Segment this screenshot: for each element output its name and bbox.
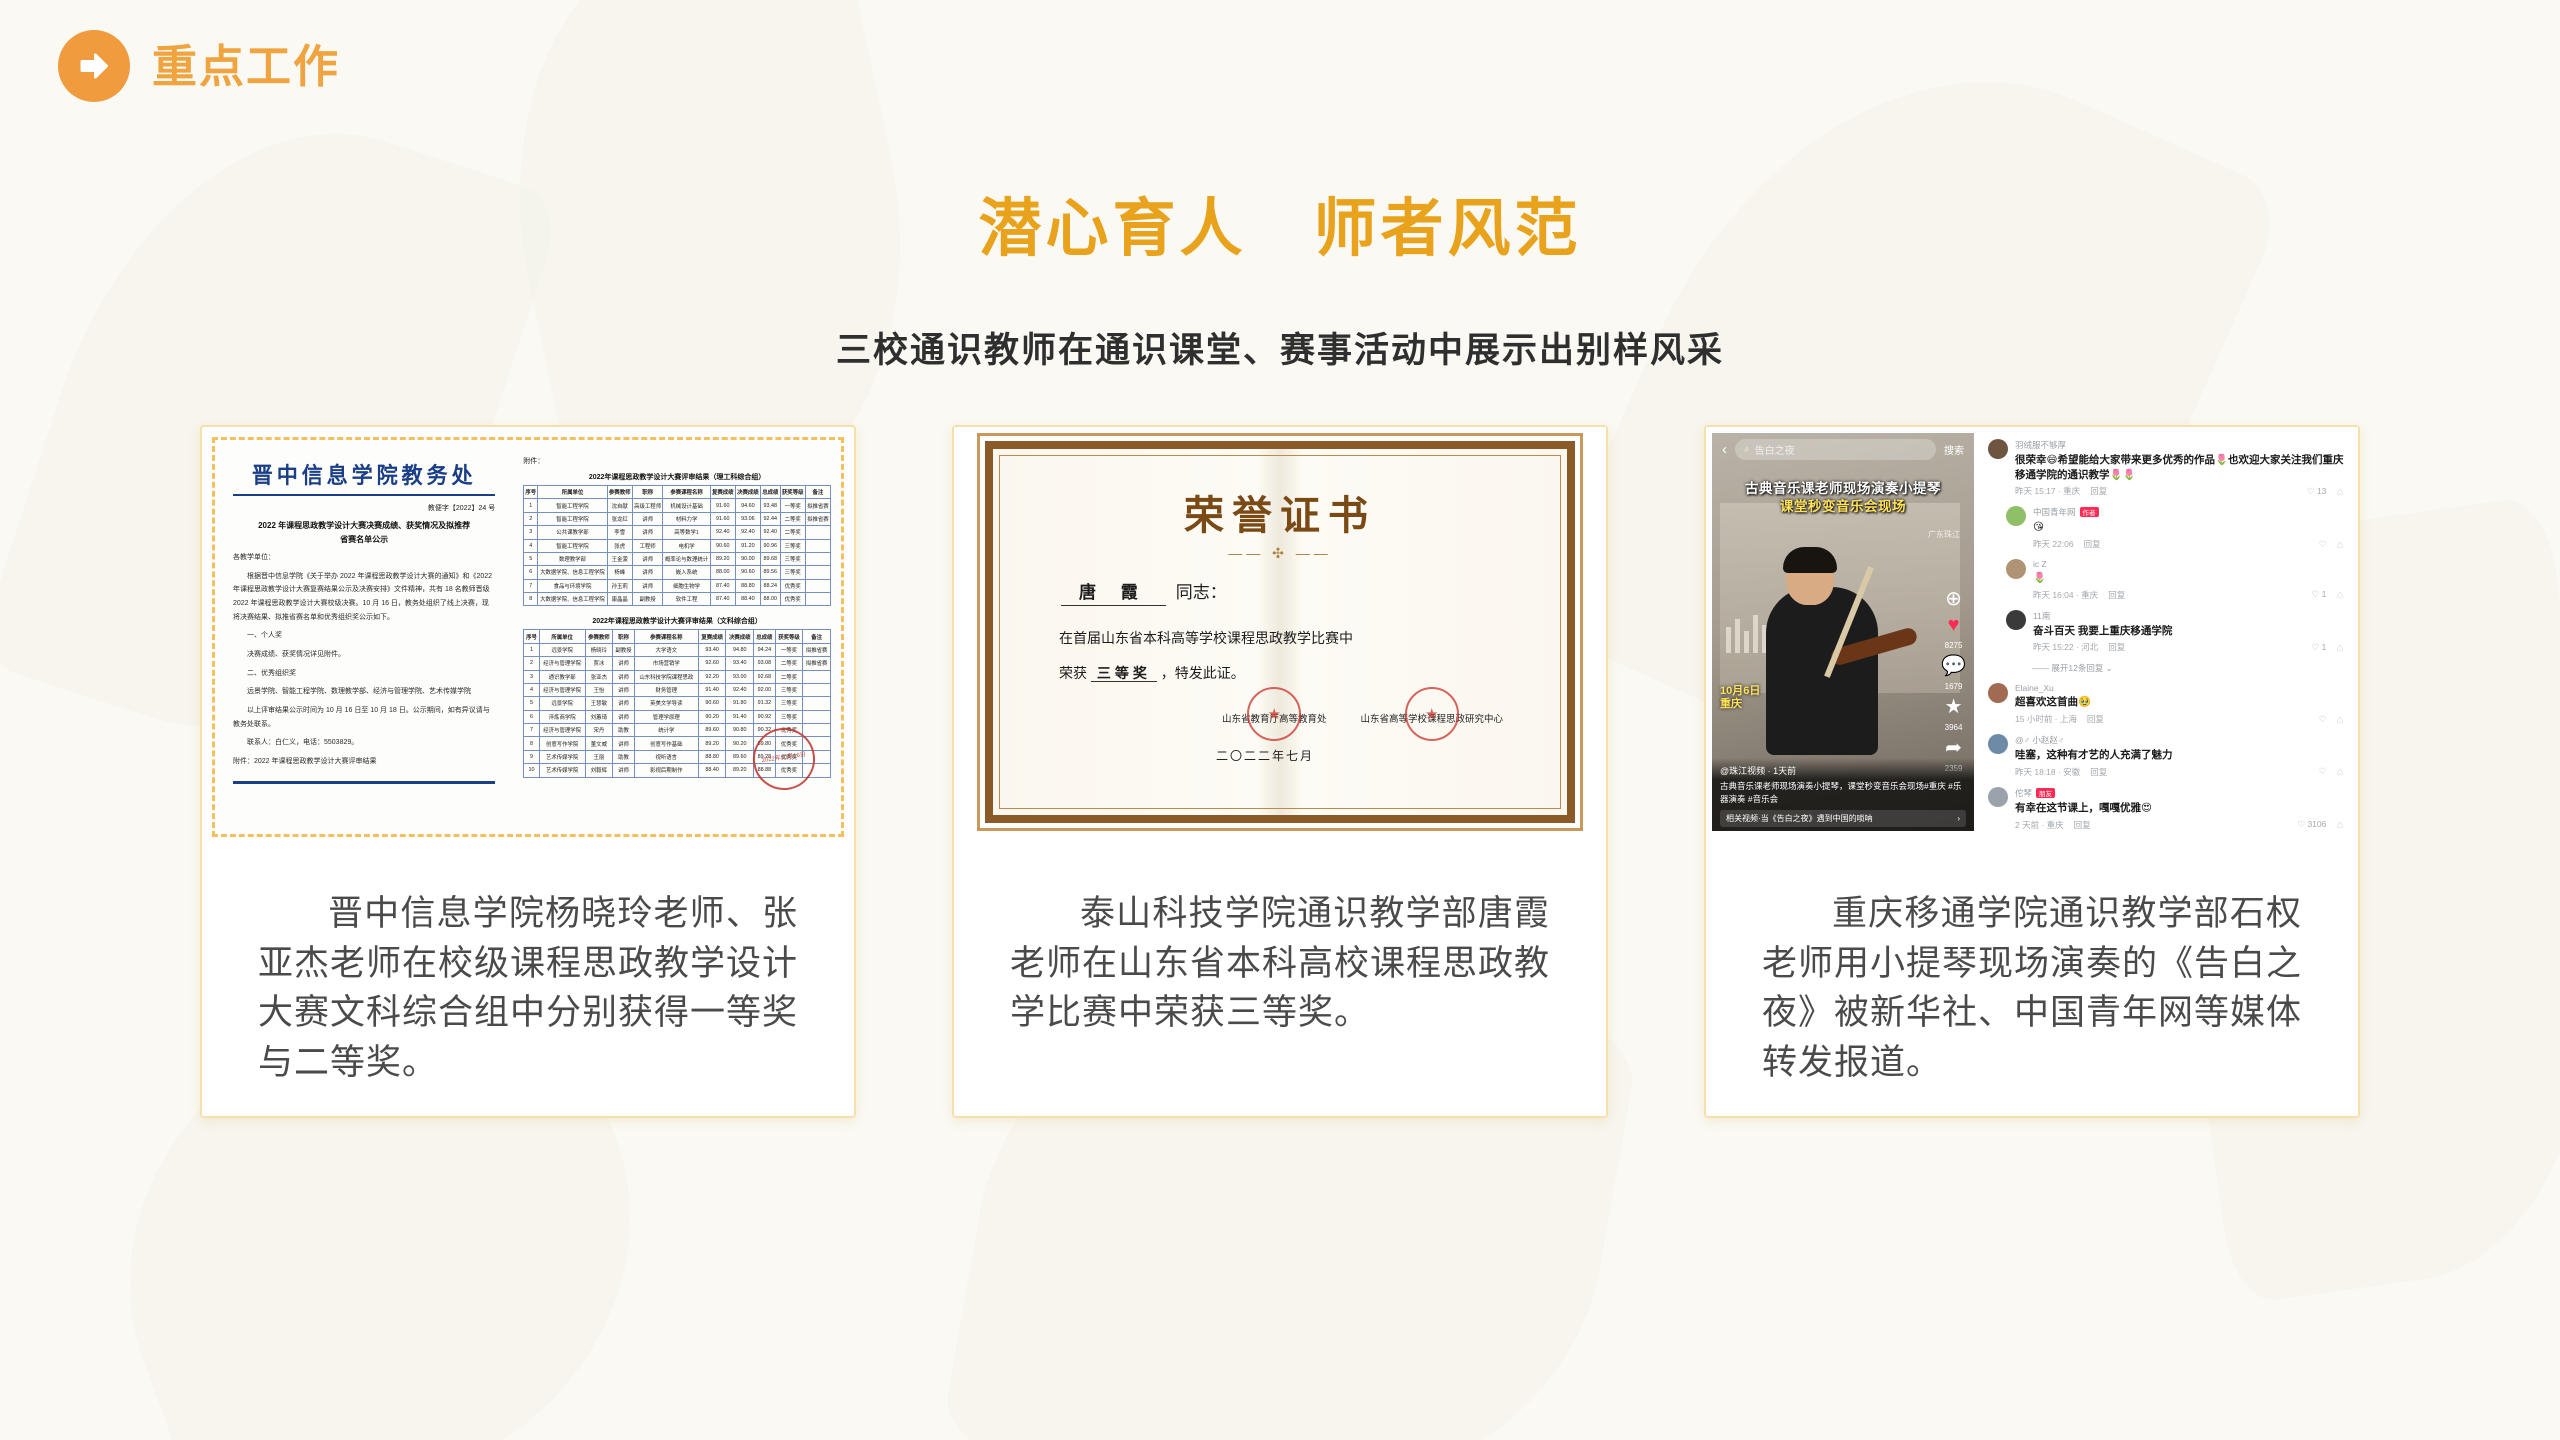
table-cell: 贾冰 (585, 657, 613, 670)
table-cell: 5 (524, 697, 540, 710)
certificate-seal-left: 山东省教育厅高等教育处 (1222, 711, 1327, 725)
table-cell: 大数据学院、信息工程学院 (538, 593, 607, 606)
table-col-header: 参赛课程名称 (663, 486, 710, 499)
avatar[interactable] (1988, 439, 2008, 459)
table-cell: 93.00 (726, 670, 754, 683)
page-title: 潜心育人 师者风范 (0, 178, 2560, 269)
table-cell: 91.20 (735, 539, 760, 552)
table-cell: 创意写作学院 (539, 737, 585, 750)
author-badge: 作者 (2080, 507, 2099, 517)
reply-button[interactable]: 回复 (2074, 819, 2091, 831)
table-col-header: 备注 (805, 486, 830, 499)
comment-username-label: @♂ 小赵赵♂ (2015, 734, 2064, 746)
table-cell: 优秀奖 (780, 593, 805, 606)
chevron-right-icon: › (1957, 814, 1960, 823)
table-cell: 9 (524, 750, 540, 763)
table-row: 8大数据学院、信息工程学院康晶晶副教授软件工程87.4088.4088.00优秀… (524, 593, 831, 606)
table-cell: 远景学院 (539, 697, 585, 710)
document-number: 教便字【2022】24 号 (233, 503, 495, 513)
table-cell: 6 (524, 710, 540, 723)
table-row: 2经济与管理学院贾冰讲师市场营销学92.6093.4093.08二等奖拟推省赛 (524, 657, 831, 670)
comment-timestamp: 15 小时前 · 上海 (2015, 713, 2077, 725)
table-cell: 张龙红 (607, 512, 632, 525)
document-red-seal-text: 2022年10月16日 (761, 752, 806, 766)
comment-item[interactable]: 中国青年网作者😘昨天 22:06回复♡ ♡ (2006, 506, 2344, 550)
comment-meta: 15 小时前 · 上海回复♡ ♡ (2015, 713, 2344, 725)
certificate-body-line2: 荣获 三等奖 ，特发此证。 (1059, 659, 1501, 688)
table-row: 1智能工程学院沈自献高级工程师机械设计基础91.6094.6093.48一等奖拟… (524, 499, 831, 512)
table-cell: 三等奖 (780, 566, 805, 579)
reply-button[interactable]: 回复 (2090, 766, 2107, 778)
table-cell: 电机学 (663, 539, 710, 552)
table-cell: 90.60 (710, 539, 735, 552)
table-cell: 90.20 (726, 737, 754, 750)
comment-timestamp: 昨天 16:04 · 重庆 (2033, 589, 2098, 601)
comment-text: 🌷 (2033, 571, 2344, 586)
comment-meta: 昨天 15:22 · 河北回复♡ 1♡ (2033, 641, 2344, 653)
cards-row: 晋中信息学院教务处 教便字【2022】24 号 2022 年课程思政教学设计大赛… (0, 425, 2560, 1118)
comment-body: 11南奋斗百天 我要上重庆移通学院昨天 15:22 · 河北回复♡ 1♡ (2033, 610, 2344, 654)
honor-certificate: 荣誉证书 —— ✣ —— 唐 霞 同志： 在首届山东省本科高等学校课程思政教学比… (985, 441, 1575, 823)
comment-username[interactable]: @♂ 小赵赵♂ (2015, 734, 2344, 746)
table-cell (803, 710, 831, 723)
card-2: 荣誉证书 —— ✣ —— 唐 霞 同志： 在首届山东省本科高等学校课程思政教学比… (952, 425, 1608, 1118)
table-cell: 89.60 (726, 750, 754, 763)
table-cell: 沈自献 (607, 499, 632, 512)
violinist-body (1766, 587, 1878, 755)
table-cell: 讲师 (632, 552, 663, 565)
table-cell: 讲师 (613, 683, 635, 696)
table-cell: 三等奖 (780, 539, 805, 552)
video-author-time: · 1天前 (1768, 766, 1797, 776)
table-cell: 宋丹 (585, 724, 613, 737)
table-col-header: 获奖等级 (780, 486, 805, 499)
comment-username[interactable]: Elaine_Xu (2015, 683, 2344, 693)
table-cell: 大数据学院、信息工程学院 (538, 566, 607, 579)
search-input[interactable]: ⌕ 告白之夜 (1735, 439, 1936, 460)
table-cell: 92.40 (735, 526, 760, 539)
table-cell: 6 (524, 566, 538, 579)
card-1-caption: 晋中信息学院杨晓玲老师、张亚杰老师在校级课程思政教学设计大赛文科综合组中分别获得… (202, 837, 854, 1098)
table-col-header: 所属单位 (539, 630, 585, 643)
comment-dislike-icon[interactable]: ♡ (2336, 589, 2344, 600)
comment-body: @♂ 小赵赵♂哇塞，这种有才艺的人充满了魅力昨天 18:18 · 安徽回复♡ ♡ (2015, 734, 2344, 778)
comment-item[interactable]: 佗琴朋友有幸在这节课上，嘎嘎优雅😍2 天前 · 重庆回复♡ 3106♡ (1988, 787, 2344, 831)
table-cell: 材料力学 (663, 512, 710, 525)
table-cell: 讲师 (613, 710, 635, 723)
like-count: 8275 (1945, 641, 1963, 650)
table-cell: 7 (524, 724, 540, 737)
table-cell: 淬炼商学院 (539, 710, 585, 723)
table-cell: 讲师 (613, 737, 635, 750)
table-cell: 1 (524, 499, 538, 512)
table-cell: 91.40 (698, 683, 726, 696)
video-caption-line2: 课堂秒变音乐会现场 (1712, 495, 1974, 515)
avatar[interactable] (2006, 559, 2026, 579)
table-row: 7食品与环境学院孙玉莉讲师细胞生物学87.4088.8088.24优秀奖 (524, 579, 831, 592)
table-cell: 92.40 (760, 526, 780, 539)
table-cell: 远景学院 (539, 643, 585, 656)
table-cell: 10 (524, 764, 540, 777)
table-cell: 90.80 (726, 724, 754, 737)
table-row: 2智能工程学院张龙红讲师材料力学91.6093.0692.44二等奖拟推省赛 (524, 512, 831, 525)
table-cell: 92.40 (710, 526, 735, 539)
table-cell: 92.68 (754, 670, 776, 683)
table-cell: 三等奖 (775, 683, 803, 696)
table-cell: 智能工程学院 (538, 539, 607, 552)
table-cell: 4 (524, 539, 538, 552)
table-cell: 讲师 (613, 764, 635, 777)
comment-item[interactable]: ic Z🌷昨天 16:04 · 重庆回复♡ 1♡ (2006, 559, 2344, 601)
related-video-label: 相关视频·当《告白之夜》遇到中国的唢呐 (1726, 813, 1873, 824)
avatar[interactable] (1988, 683, 2008, 703)
table-cell (805, 593, 830, 606)
document-header: 晋中信息学院教务处 (238, 458, 490, 490)
table-cell: 王怡 (585, 683, 613, 696)
table-cell: 智能工程学院 (538, 499, 607, 512)
follow-plus-icon[interactable]: ⊕ (1945, 589, 1962, 609)
certificate-ornament: —— ✣ —— (1023, 545, 1537, 562)
table-col-header: 决赛成绩 (735, 486, 760, 499)
comment-dislike-icon[interactable]: ♡ (2336, 486, 2344, 497)
table-cell: 杨晓玲 (585, 643, 613, 656)
table-cell: 一等奖 (780, 499, 805, 512)
table-cell: 88.24 (760, 579, 780, 592)
table-cell: 三等奖 (775, 697, 803, 710)
video-screenshot: ‹ ⌕ 告白之夜 搜索 古典音乐课老师现场演奏小提琴 课堂秒变音乐会现场 广东珠… (1706, 427, 2358, 837)
table-col-header: 获奖等级 (775, 630, 803, 643)
table-cell: 讲师 (613, 657, 635, 670)
table-cell: 8 (524, 593, 538, 606)
table-cell: 软件工程 (663, 593, 710, 606)
certificate-photo: 荣誉证书 —— ✣ —— 唐 霞 同志： 在首届山东省本科高等学校课程思政教学比… (954, 427, 1606, 837)
table-cell: 3 (524, 670, 540, 683)
table-col-header: 总成绩 (754, 630, 776, 643)
table-cell: 高级工程师 (632, 499, 663, 512)
table-cell: 讲师 (632, 526, 663, 539)
table-cell: 91.40 (726, 710, 754, 723)
table-cell (805, 579, 830, 592)
table-col-header: 总成绩 (760, 486, 780, 499)
avatar[interactable] (2006, 506, 2026, 526)
table-cell: 讲师 (613, 697, 635, 710)
table-cell: 5 (524, 552, 538, 565)
table-cell: 副教授 (613, 643, 635, 656)
table-cell: 副教授 (632, 593, 663, 606)
table-cell: 刘毅辉 (585, 764, 613, 777)
favorite-count: 3964 (1945, 723, 1963, 732)
comment-dislike-icon[interactable]: ♡ (2336, 539, 2344, 550)
table-cell: 二等奖 (775, 657, 803, 670)
table-cell: 拟推省赛 (805, 512, 830, 525)
certificate-name-suffix: 同志： (1176, 578, 1227, 603)
video-author[interactable]: @珠江视频 (1720, 766, 1765, 776)
table-cell: 2 (524, 657, 540, 670)
table-row: 5远景学院王慧敏讲师英美文学导读90.6091.8091.32三等奖 (524, 697, 831, 710)
table-cell: 4 (524, 683, 540, 696)
comment-like-icon[interactable]: ♡ 13 (2307, 486, 2326, 497)
table-cell: 91.60 (710, 499, 735, 512)
document-paragraph: 一、个人奖 (233, 629, 495, 643)
search-value: 告白之夜 (1755, 442, 1795, 457)
comment-like-icon[interactable]: ♡ (2319, 539, 2327, 550)
document-title-line2: 省赛名单公示 (233, 533, 495, 547)
document-attachment-note: 附件：2022 年课程思政教学设计大赛评审结果 (233, 755, 495, 769)
table-cell: 87.40 (710, 579, 735, 592)
table-cell: 89.60 (698, 724, 726, 737)
comment-like-icon[interactable]: ♡ (2319, 714, 2327, 725)
table-cell: 视听语言 (634, 750, 698, 763)
table-2-caption: 2022年课程思政教学设计大赛评审结果（文科综合组） (523, 616, 831, 626)
table-cell: 1 (524, 643, 540, 656)
comment-like-icon[interactable]: ♡ 1 (2312, 589, 2327, 600)
document-title-line1: 2022 年课程思政教学设计大赛决赛成绩、获奖情况及拟推荐 (233, 519, 495, 533)
comment-username[interactable]: 11南 (2033, 610, 2344, 622)
comment-username[interactable]: 中国青年网作者 (2033, 506, 2344, 518)
results-table-1: 序号 所属单位 参赛教师 职称 参赛课程名称 复赛成绩 决赛成绩 总成绩 获奖等… (523, 485, 831, 606)
table-cell: 助教 (613, 750, 635, 763)
table-cell: 91.80 (726, 697, 754, 710)
table-cell: 统计学 (634, 724, 698, 737)
comment-text: 有幸在这节课上，嘎嘎优雅😍 (2015, 801, 2344, 816)
table-cell: 91.60 (710, 512, 735, 525)
table-cell: 拟推省赛 (803, 657, 831, 670)
table-cell: 93.40 (726, 657, 754, 670)
table-cell: 二等奖 (775, 670, 803, 683)
card-3: ‹ ⌕ 告白之夜 搜索 古典音乐课老师现场演奏小提琴 课堂秒变音乐会现场 广东珠… (1704, 425, 2360, 1118)
red-stamp-icon (1247, 687, 1301, 741)
table-cell: 董文威 (585, 737, 613, 750)
table-cell: 讲师 (613, 670, 635, 683)
table-col-header: 序号 (524, 486, 538, 499)
table-row: 1远景学院杨晓玲副教授大学语文93.4094.8094.24一等奖拟推省赛 (524, 643, 831, 656)
table-cell: 二等奖 (780, 526, 805, 539)
comment-like-icon[interactable]: ♡ 3106 (2297, 819, 2326, 830)
table-cell: 87.40 (710, 593, 735, 606)
share-icon[interactable]: ➦ (1945, 738, 1962, 758)
reply-button[interactable]: 回复 (2090, 485, 2107, 497)
table-cell: 智能工程学院 (538, 512, 607, 525)
section-header: 重点工作 (58, 30, 340, 102)
comment-item[interactable]: Elaine_Xu超喜欢这首曲🥹15 小时前 · 上海回复♡ ♡ (1988, 683, 2344, 725)
comment-like-icon[interactable]: ♡ (2319, 766, 2327, 777)
table-cell: 通识教学部 (539, 670, 585, 683)
video-author-row: @珠江视频 · 1天前 (1720, 764, 1966, 777)
comment-like-icon[interactable]: ♡ 1 (2312, 642, 2327, 653)
table-cell: 88.80 (735, 579, 760, 592)
video-caption-line1: 古典音乐课老师现场演奏小提琴 (1712, 477, 1974, 497)
red-stamp-icon (1405, 687, 1459, 741)
related-video-bar[interactable]: 相关视频·当《告白之夜》遇到中国的唢呐 › (1720, 810, 1966, 827)
document-paragraph: 以上评审结果公示时间为 10 月 16 日至 10 月 18 日。公示期间，如有… (233, 704, 495, 731)
card-1-media: 晋中信息学院教务处 教便字【2022】24 号 2022 年课程思政教学设计大赛… (212, 437, 844, 837)
table-cell: 拟推省赛 (803, 643, 831, 656)
reply-button[interactable]: 回复 (2108, 641, 2125, 653)
table-cell: 王丽 (585, 750, 613, 763)
document-left-page: 晋中信息学院教务处 教便字【2022】24 号 2022 年课程思政教学设计大赛… (215, 440, 509, 834)
comment-username[interactable]: ic Z (2033, 559, 2344, 569)
certificate-award-level: 三等奖 (1091, 665, 1157, 682)
certificate-title: 荣誉证书 (1023, 483, 1537, 541)
star-icon[interactable]: ★ (1945, 697, 1963, 717)
table-row: 3通识教学部张亚杰讲师山东科技学院课程思政92.2093.0092.68二等奖 (524, 670, 831, 683)
card-2-media: 荣誉证书 —— ✣ —— 唐 霞 同志： 在首届山东省本科高等学校课程思政教学比… (954, 427, 1606, 837)
table-col-header: 参赛教师 (585, 630, 613, 643)
video-date-badge: 10月6日 重庆 (1720, 685, 1760, 711)
table-cell: 杨峰 (607, 566, 632, 579)
table-cell: 讲师 (632, 512, 663, 525)
table-cell: 经济与管理学院 (539, 683, 585, 696)
reply-button[interactable]: 回复 (2084, 538, 2101, 550)
table-cell: 7 (524, 579, 538, 592)
table-cell: 93.06 (735, 512, 760, 525)
comment-body: 佗琴朋友有幸在这节课上，嘎嘎优雅😍2 天前 · 重庆回复♡ 3106♡ (2015, 787, 2344, 831)
table-col-header: 所属单位 (538, 486, 607, 499)
certificate-seal-right: 山东省高等学校课程思政研究中心 (1360, 711, 1503, 725)
table-cell: 92.60 (698, 657, 726, 670)
certificate-seals: 山东省教育厅高等教育处 山东省高等学校课程思政研究中心 (1023, 711, 1503, 725)
table-row: 6大数据学院、信息工程学院杨峰讲师嵌入系统88.0090.6089.56三等奖 (524, 566, 831, 579)
comment-count: 1679 (1945, 682, 1963, 691)
table-cell: 93.48 (760, 499, 780, 512)
comment-username[interactable]: 羽绒服不够厚 (2015, 439, 2344, 451)
comment-text: 很荣幸😄希望能给大家带来更多优秀的作品🌷也欢迎大家关注我们重庆移通学院的通识教学… (2015, 453, 2344, 482)
comment-username-label: 佗琴 (2015, 787, 2032, 799)
table-header-row: 序号 所属单位 参赛教师 职称 参赛课程名称 复赛成绩 决赛成绩 总成绩 获奖等… (524, 630, 831, 643)
table-cell: 数理教学部 (538, 552, 607, 565)
avatar[interactable] (1988, 787, 2008, 807)
table-cell: 影视后期制作 (634, 764, 698, 777)
comment-username-label: Elaine_Xu (2015, 683, 2054, 693)
video-footer: @珠江视频 · 1天前 古典音乐课老师现场演奏小提琴，课堂秒变音乐会现场#重庆 … (1712, 758, 1974, 831)
chevron-left-icon[interactable]: ‹ (1722, 442, 1727, 457)
comment-username[interactable]: 佗琴朋友 (2015, 787, 2344, 799)
comment-meta: 昨天 16:04 · 重庆回复♡ 1♡ (2033, 589, 2344, 601)
table-cell (803, 670, 831, 683)
table-cell: 张虎 (607, 539, 632, 552)
video-top-bar: ‹ ⌕ 告白之夜 搜索 (1712, 439, 1974, 460)
table-cell: 89.68 (760, 552, 780, 565)
table-cell: 李雪 (607, 526, 632, 539)
section-header-label: 重点工作 (152, 44, 340, 89)
table-cell: 机械设计基础 (663, 499, 710, 512)
reply-button[interactable]: 回复 (2087, 713, 2104, 725)
comment-timestamp: 昨天 18:18 · 安徽 (2015, 766, 2080, 778)
certificate-name-row: 唐 霞 同志： (1061, 578, 1537, 606)
search-icon: ⌕ (1744, 444, 1750, 455)
table-col-header: 序号 (524, 630, 540, 643)
table-cell (803, 697, 831, 710)
table-cell: 88.80 (698, 750, 726, 763)
violinist-hair (1783, 547, 1837, 573)
table-cell: 助教 (613, 724, 635, 737)
document-footer-rule (233, 781, 495, 784)
table-cell: 工程师 (632, 539, 663, 552)
certificate-body-prefix: 荣获 (1059, 665, 1087, 681)
table-row: 6淬炼商学院刘蕙琦讲师管理学原理90.2091.4090.92三等奖 (524, 710, 831, 723)
table-cell: 88.40 (735, 593, 760, 606)
comment-meta: 昨天 18:18 · 安徽回复♡ ♡ (2015, 766, 2344, 778)
table-cell: 92.40 (726, 683, 754, 696)
table-col-header: 职称 (613, 630, 635, 643)
table-col-header: 参赛教师 (607, 486, 632, 499)
author-badge: 朋友 (2036, 788, 2055, 798)
comment-body: Elaine_Xu超喜欢这首曲🥹15 小时前 · 上海回复♡ ♡ (2015, 683, 2344, 725)
comment-body: 中国青年网作者😘昨天 22:06回复♡ ♡ (2033, 506, 2344, 550)
comment-item[interactable]: @♂ 小赵赵♂哇塞，这种有才艺的人充满了魅力昨天 18:18 · 安徽回复♡ ♡ (1988, 734, 2344, 778)
comment-dislike-icon[interactable]: ♡ (2336, 819, 2344, 830)
avatar[interactable] (1988, 734, 2008, 754)
document-paragraph: 远景学院、智能工程学院、数理教学部、经济与管理学院、艺术传媒学院 (233, 685, 495, 699)
avatar[interactable] (2006, 610, 2026, 630)
table-cell: 嵌入系统 (663, 566, 710, 579)
table-cell: 拟推省赛 (805, 499, 830, 512)
table-cell: 食品与环境学院 (538, 579, 607, 592)
document-salutation: 各教学单位： (233, 551, 495, 565)
document-paragraph: 联系人：白仁义，电话：5503829。 (233, 736, 495, 750)
page-subtitle: 三校通识教师在通识课堂、赛事活动中展示出别样风采 (0, 322, 2560, 373)
table-header-row: 序号 所属单位 参赛教师 职称 参赛课程名称 复赛成绩 决赛成绩 总成绩 获奖等… (524, 486, 831, 499)
table-cell: 创意写作基础 (634, 737, 698, 750)
table-cell: 市场营销学 (634, 657, 698, 670)
table-cell: 90.60 (698, 697, 726, 710)
comment-dislike-icon[interactable]: ♡ (2336, 766, 2344, 777)
comment-body: ic Z🌷昨天 16:04 · 重庆回复♡ 1♡ (2033, 559, 2344, 601)
table-cell: 91.32 (754, 697, 776, 710)
table-cell (805, 566, 830, 579)
search-button[interactable]: 搜索 (1944, 442, 1964, 457)
comment-dislike-icon[interactable]: ♡ (2336, 714, 2344, 725)
table-cell: 王慧敏 (585, 697, 613, 710)
table-cell: 经济与管理学院 (539, 657, 585, 670)
table-cell: 英美文学导读 (634, 697, 698, 710)
comment-timestamp: 昨天 15:17 · 重庆 (2015, 485, 2080, 497)
comment-text: 哇塞，这种有才艺的人充满了魅力 (2015, 748, 2344, 763)
video-player[interactable]: ‹ ⌕ 告白之夜 搜索 古典音乐课老师现场演奏小提琴 课堂秒变音乐会现场 广东珠… (1712, 433, 1974, 831)
table-cell: 89.20 (710, 552, 735, 565)
table-col-header: 复赛成绩 (710, 486, 735, 499)
expand-replies-button[interactable]: —— 展开12条回复 ⌄ (2032, 662, 2344, 674)
table-cell: 8 (524, 737, 540, 750)
table-cell (803, 683, 831, 696)
table-cell: 94.60 (735, 499, 760, 512)
table-cell: 89.20 (698, 737, 726, 750)
heart-icon[interactable]: ♥ (1948, 615, 1960, 635)
comment-username-label: 羽绒服不够厚 (2015, 439, 2066, 451)
comment-item[interactable]: 11南奋斗百天 我要上重庆移通学院昨天 15:22 · 河北回复♡ 1♡ (2006, 610, 2344, 654)
card-2-caption: 泰山科技学院通识教学部唐霞老师在山东省本科高校课程思政教学比赛中荣获三等奖。 (954, 837, 1606, 1048)
comments-panel[interactable]: 羽绒服不够厚很荣幸😄希望能给大家带来更多优秀的作品🌷也欢迎大家关注我们重庆移通学… (1982, 433, 2352, 831)
comment-item[interactable]: 羽绒服不够厚很荣幸😄希望能给大家带来更多优秀的作品🌷也欢迎大家关注我们重庆移通学… (1988, 439, 2344, 497)
table-cell: 张亚杰 (585, 670, 613, 683)
certificate-body-line1: 在首届山东省本科高等学校课程思政教学比赛中 (1059, 624, 1501, 653)
table-col-header: 备注 (803, 630, 831, 643)
table-cell: 88.00 (760, 593, 780, 606)
table-cell: 三等奖 (780, 552, 805, 565)
table-cell: 艺术传媒学院 (539, 750, 585, 763)
table-cell: 经济与管理学院 (539, 724, 585, 737)
table-cell: 王金菠 (607, 552, 632, 565)
comment-meta: 2 天前 · 重庆回复♡ 3106♡ (2015, 819, 2344, 831)
table-row: 4智能工程学院张虎工程师电机学90.6091.2090.96三等奖 (524, 539, 831, 552)
comment-icon[interactable]: 💬 (1941, 656, 1966, 676)
table-row: 3公共课教学部李雪讲师高等数学192.4092.4092.40二等奖 (524, 526, 831, 539)
comment-text: 奋斗百天 我要上重庆移通学院 (2033, 624, 2344, 639)
comment-dislike-icon[interactable]: ♡ (2336, 642, 2344, 653)
reply-button[interactable]: 回复 (2108, 589, 2125, 601)
table-col-header: 复赛成绩 (698, 630, 726, 643)
table-cell: 一等奖 (775, 643, 803, 656)
